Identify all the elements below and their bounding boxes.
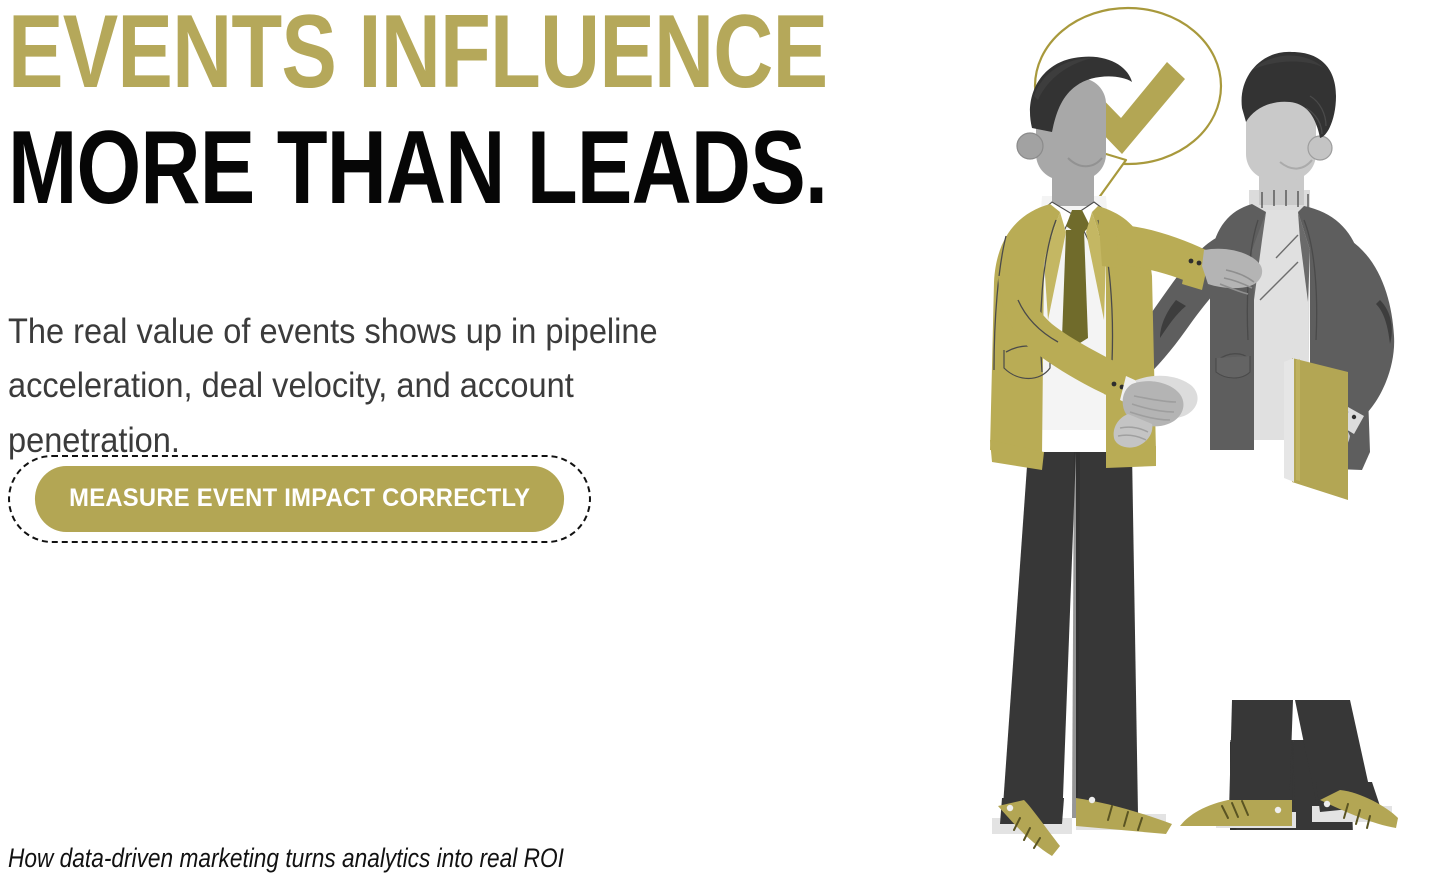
cta-dashed-ring: MEASURE EVENT IMPACT CORRECTLY	[8, 455, 591, 543]
hero-content: EVENTS INFLUENCE MORE THAN LEADS. The re…	[0, 0, 880, 895]
businessman-left	[990, 57, 1262, 856]
left-figure-shoes	[992, 790, 1172, 856]
hero-slide: EVENTS INFLUENCE MORE THAN LEADS. The re…	[0, 0, 1435, 895]
gold-folder	[1284, 358, 1348, 500]
businessman-right	[1092, 52, 1435, 895]
hero-subheading: The real value of events shows up in pip…	[8, 305, 743, 468]
footer-tagline: How data-driven marketing turns analytic…	[8, 843, 564, 874]
right-figure-head	[1242, 52, 1336, 180]
left-figure-trousers	[1002, 452, 1138, 824]
page-title: EVENTS INFLUENCE MORE THAN LEADS.	[8, 2, 868, 220]
headline-line-secondary: MORE THAN LEADS.	[8, 118, 696, 220]
measure-event-impact-button[interactable]: MEASURE EVENT IMPACT CORRECTLY	[35, 466, 565, 532]
headline-line-primary: EVENTS INFLUENCE	[8, 2, 696, 104]
handshake-illustration	[880, 0, 1435, 895]
